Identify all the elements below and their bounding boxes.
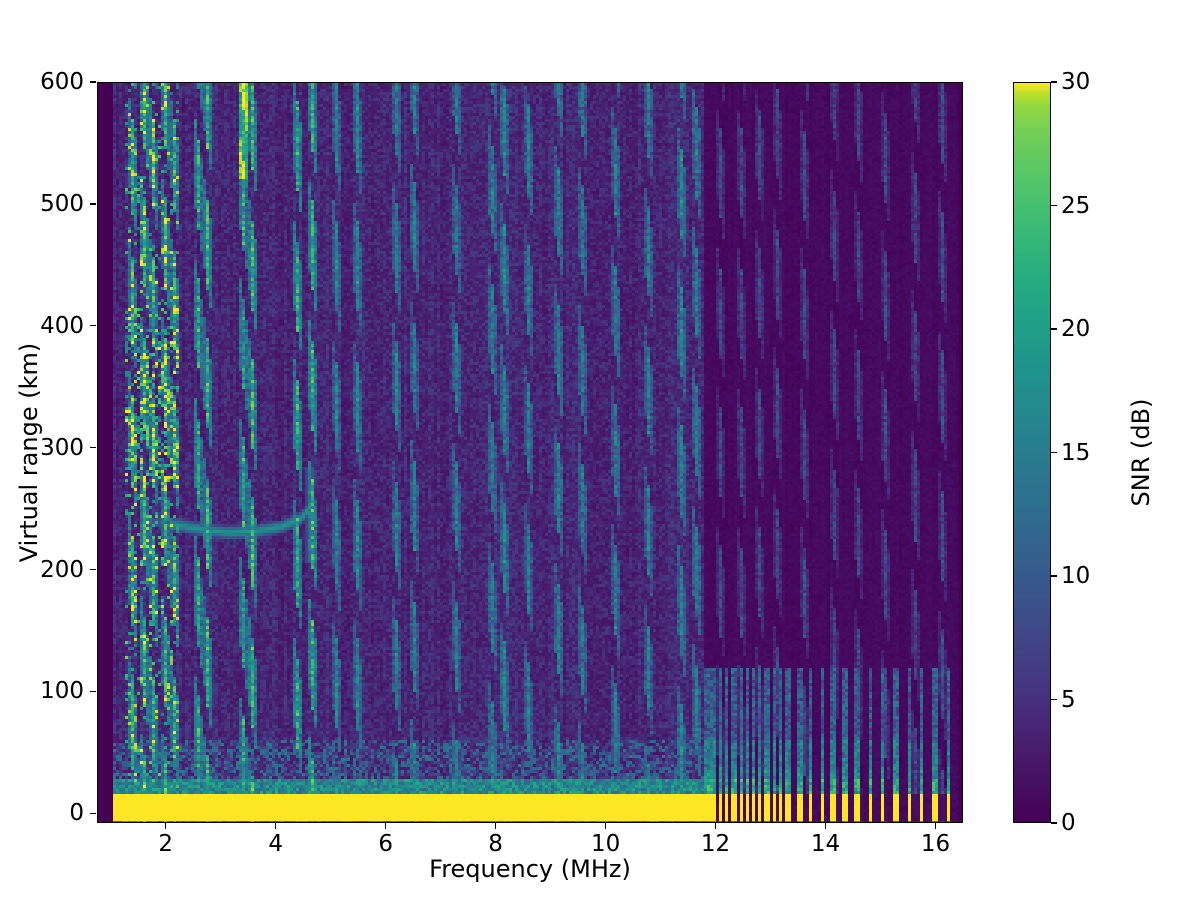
x-tick-mark: [275, 823, 276, 829]
x-tick-mark: [165, 823, 166, 829]
y-tick-mark: [90, 813, 96, 814]
ionogram-heatmap: [98, 83, 963, 823]
colorbar-tick-label: 30: [1061, 69, 1090, 95]
x-tick-mark: [495, 823, 496, 829]
colorbar-tick-mark: [1051, 822, 1057, 823]
x-tick-label: 2: [158, 831, 173, 857]
x-tick-label: 8: [488, 831, 503, 857]
ionogram-figure: IRF Uppsala SDR Ionosonde UP158 2026-03-…: [0, 0, 1200, 900]
colorbar-tick-mark: [1051, 205, 1057, 206]
colorbar-tick-label: 10: [1061, 563, 1090, 589]
colorbar-tick-label: 5: [1061, 687, 1076, 713]
colorbar-tick-label: 0: [1061, 810, 1076, 836]
y-tick-mark: [90, 81, 96, 82]
snr-colorbar: [1013, 82, 1051, 823]
y-tick-label: 500: [40, 191, 84, 217]
colorbar-tick-mark: [1051, 575, 1057, 576]
colorbar-tick-mark: [1051, 452, 1057, 453]
x-tick-mark: [605, 823, 606, 829]
x-tick-mark: [715, 823, 716, 829]
y-tick-mark: [90, 569, 96, 570]
x-axis-title: Frequency (MHz): [97, 855, 963, 883]
y-tick-mark: [90, 691, 96, 692]
x-tick-label: 16: [921, 831, 950, 857]
y-tick-mark: [90, 447, 96, 448]
y-tick-label: 400: [40, 313, 84, 339]
y-tick-mark: [90, 325, 96, 326]
y-tick-label: 300: [40, 435, 84, 461]
y-tick-label: 200: [40, 557, 84, 583]
colorbar-title: SNR (dB): [1126, 82, 1156, 823]
x-tick-mark: [825, 823, 826, 829]
y-tick-label: 600: [40, 69, 84, 95]
ionogram-plot-area[interactable]: [97, 82, 963, 823]
colorbar-tick-mark: [1051, 81, 1057, 82]
x-tick-mark: [935, 823, 936, 829]
x-tick-label: 10: [591, 831, 620, 857]
y-tick-mark: [90, 203, 96, 204]
x-tick-label: 14: [811, 831, 840, 857]
x-tick-label: 6: [378, 831, 393, 857]
colorbar-tick-mark: [1051, 699, 1057, 700]
colorbar-tick-mark: [1051, 328, 1057, 329]
x-tick-label: 4: [268, 831, 283, 857]
x-tick-label: 12: [701, 831, 730, 857]
y-tick-label: 100: [40, 678, 84, 704]
colorbar-tick-label: 15: [1061, 440, 1090, 466]
x-tick-mark: [385, 823, 386, 829]
colorbar-tick-label: 20: [1061, 316, 1090, 342]
y-tick-label: 0: [69, 800, 84, 826]
colorbar-tick-label: 25: [1061, 193, 1090, 219]
